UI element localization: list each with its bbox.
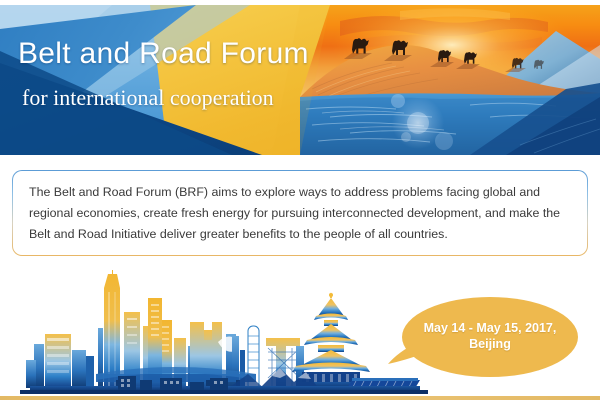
description-text: The Belt and Road Forum (BRF) aims to ex… (29, 182, 571, 245)
page-root: Belt and Road Forum for international co… (0, 0, 600, 400)
event-date-location-bubble: May 14 - May 15, 2017, Beijing (388, 296, 580, 378)
forum-description-card: The Belt and Road Forum (BRF) aims to ex… (12, 170, 588, 256)
bubble-text-group: May 14 - May 15, 2017, Beijing (410, 320, 570, 352)
banner-artwork (0, 5, 600, 155)
bottom-accent-strip (0, 396, 600, 400)
event-location: Beijing (410, 336, 570, 352)
banner: Belt and Road Forum for international co… (0, 5, 600, 155)
description-card-border: The Belt and Road Forum (BRF) aims to ex… (12, 170, 588, 256)
description-card-inner: The Belt and Road Forum (BRF) aims to ex… (13, 171, 587, 255)
event-date: May 14 - May 15, 2017, (410, 320, 570, 336)
